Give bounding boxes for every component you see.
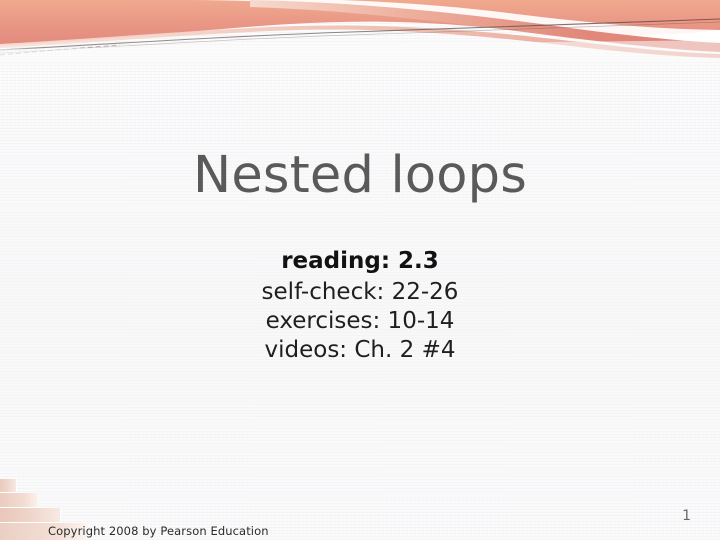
page-title: Nested loops [0,148,720,204]
self-check-line: self-check: 22-26 [0,278,720,307]
videos-line: videos: Ch. 2 #4 [0,336,720,365]
page-number: 1 [682,508,691,524]
reading-assignment-list: reading: 2.3 self-check: 22-26 exercises… [0,245,720,365]
title-block: Nested loops [0,148,720,204]
wave-ribbon-decoration [0,0,720,62]
copyright-notice: Copyright 2008 by Pearson Education [48,524,269,538]
reading-line: reading: 2.3 [0,245,720,278]
exercises-line: exercises: 10-14 [0,307,720,336]
slide-canvas: Nested loops reading: 2.3 self-check: 22… [0,0,720,540]
